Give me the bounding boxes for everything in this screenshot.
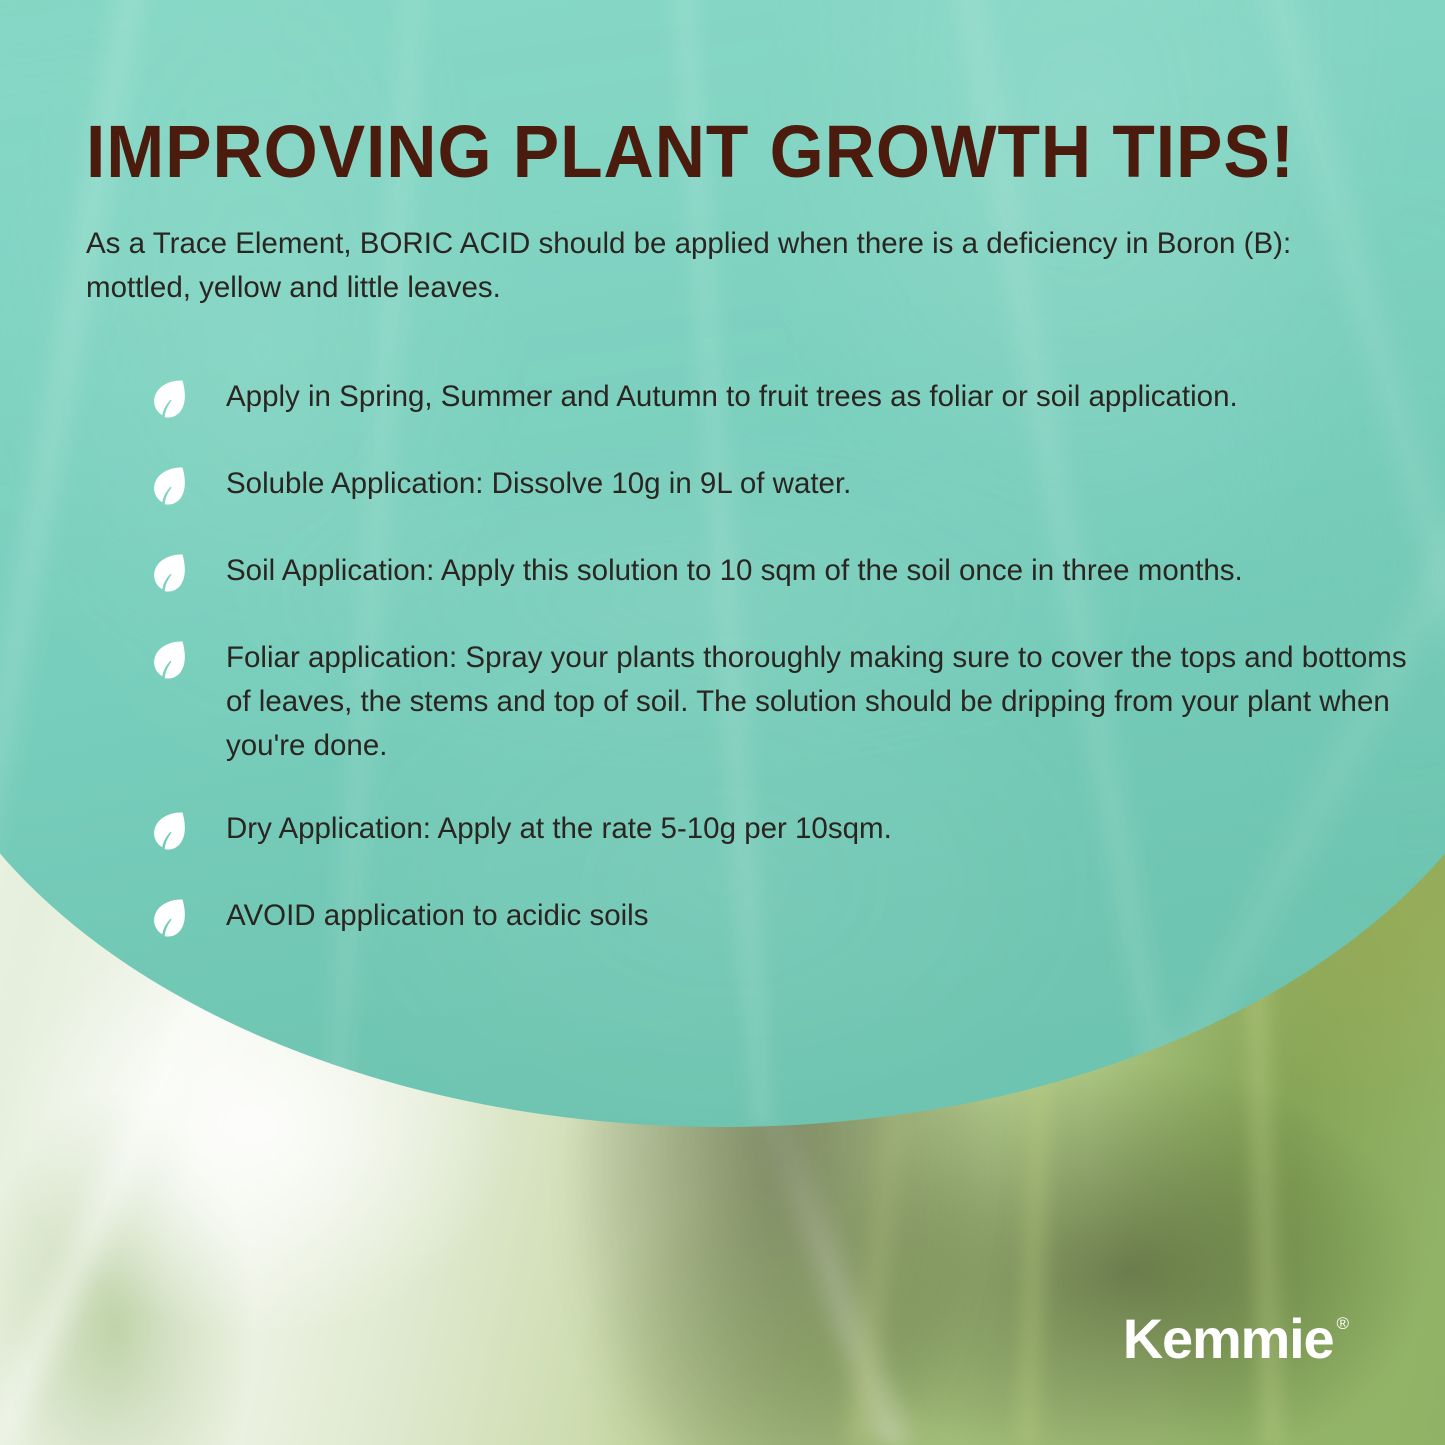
tips-list: Apply in Spring, Summer and Autumn to fr… [146,375,1416,942]
list-item-label: Dry Application: Apply at the rate 5-10g… [226,807,1416,851]
poster-content: IMPROVING PLANT GROWTH TIPS! As a Trace … [0,0,1445,1445]
list-item-label: Foliar application: Spray your plants th… [226,636,1416,768]
list-item: AVOID application to acidic soils [146,894,1416,942]
subtitle-text: As a Trace Element, BORIC ACID should be… [86,222,1386,310]
list-item: Soluble Application: Dissolve 10g in 9L … [146,462,1416,510]
list-item-label: Soluble Application: Dissolve 10g in 9L … [226,462,1416,506]
leaf-icon [146,376,190,420]
leaf-icon [146,463,190,507]
list-item: Soil Application: Apply this solution to… [146,549,1416,597]
list-item: Apply in Spring, Summer and Autumn to fr… [146,375,1416,423]
list-item: Dry Application: Apply at the rate 5-10g… [146,807,1416,855]
page-title: IMPROVING PLANT GROWTH TIPS! [86,112,1289,192]
leaf-icon [146,895,190,939]
list-item: Foliar application: Spray your plants th… [146,636,1416,768]
brand-logo: Kemmie ® [1123,1311,1349,1367]
leaf-icon [146,637,190,681]
leaf-icon [146,550,190,594]
poster-canvas: IMPROVING PLANT GROWTH TIPS! As a Trace … [0,0,1445,1445]
registered-trademark-icon: ® [1336,1313,1349,1335]
list-item-label: Soil Application: Apply this solution to… [226,549,1416,593]
leaf-icon [146,808,190,852]
list-item-label: AVOID application to acidic soils [226,894,1416,938]
list-item-label: Apply in Spring, Summer and Autumn to fr… [226,375,1416,419]
brand-name: Kemmie [1123,1311,1334,1367]
